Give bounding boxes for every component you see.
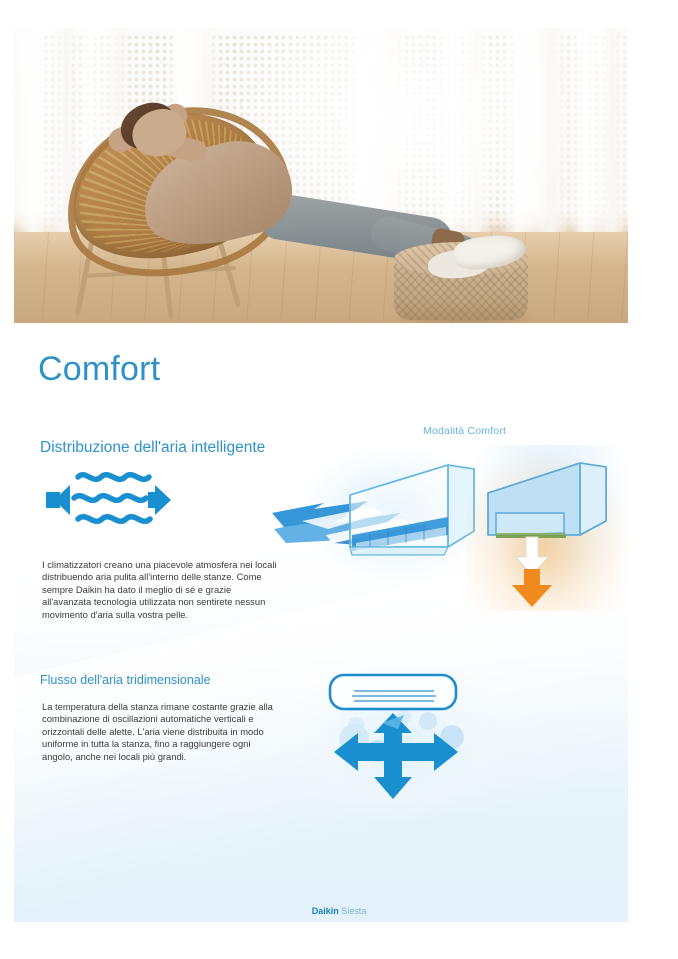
comfort-mode-label: Modalità Comfort: [423, 425, 506, 437]
airflow-waves-icon: [44, 467, 196, 533]
section-body-air-distribution: I climatizzatori creano una piacevole at…: [42, 559, 280, 621]
air-conditioner-comfort-mode: [472, 449, 628, 609]
footer-model: Siesta: [341, 906, 366, 916]
section-heading-air-distribution: Distribuzione dell'aria intelligente: [40, 439, 265, 457]
content-area: Comfort Distribuzione dell'aria intellig…: [14, 323, 628, 922]
section-body-three-d-flow: La temperatura della stanza rimane costa…: [42, 701, 280, 763]
footer-brand: Daikin: [312, 906, 339, 916]
page-title: Comfort: [38, 350, 160, 389]
section-heading-three-d-flow: Flusso dell'aria tridimensionale: [40, 673, 211, 687]
brochure-page: Comfort Distribuzione dell'aria intellig…: [14, 28, 628, 922]
three-d-airflow-diagram: [312, 671, 502, 811]
air-conditioner-standard-flow: [272, 451, 484, 579]
footer: Daikin Siesta: [0, 906, 678, 916]
hero-photo: [14, 28, 628, 323]
